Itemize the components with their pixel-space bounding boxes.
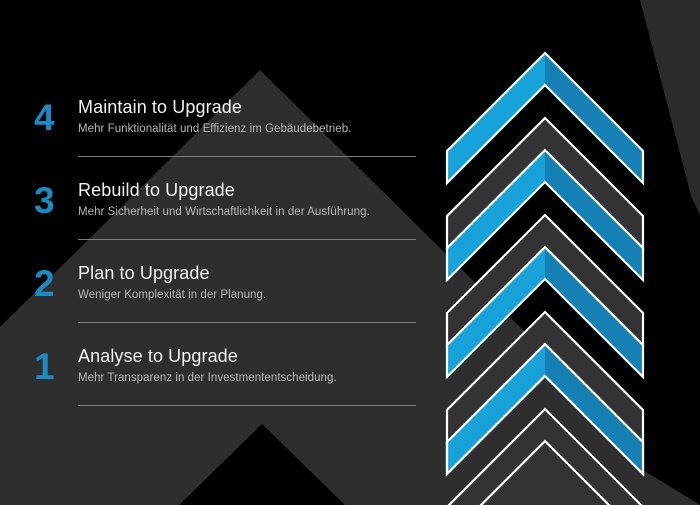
step-item-2[interactable]: 2 Plan to Upgrade Weniger Komplexität in… [34, 262, 416, 345]
step-title-1: Analyse to Upgrade [78, 345, 416, 368]
step-subtitle-1: Mehr Transparenz in der Investmententsch… [78, 370, 416, 386]
step-divider-4 [78, 156, 416, 157]
step-subtitle-2: Weniger Komplexität in der Planung. [78, 287, 416, 303]
step-number-1: 1 [34, 347, 68, 387]
step-item-1[interactable]: 1 Analyse to Upgrade Mehr Transparenz in… [34, 345, 416, 428]
step-number-2: 2 [34, 264, 68, 304]
step-subtitle-3: Mehr Sicherheit und Wirtschaftlichkeit i… [78, 204, 416, 220]
step-divider-2 [78, 322, 416, 323]
step-number-4: 4 [34, 98, 68, 138]
step-number-3: 3 [34, 181, 68, 221]
step-subtitle-4: Mehr Funktionalität und Effizienz im Geb… [78, 121, 416, 137]
slide-canvas: 4 Maintain to Upgrade Mehr Funktionalitä… [0, 0, 700, 505]
step-item-4[interactable]: 4 Maintain to Upgrade Mehr Funktionalitä… [34, 96, 416, 179]
step-title-2: Plan to Upgrade [78, 262, 416, 285]
step-divider-1 [78, 405, 416, 406]
step-item-3[interactable]: 3 Rebuild to Upgrade Mehr Sicherheit und… [34, 179, 416, 262]
step-title-3: Rebuild to Upgrade [78, 179, 416, 202]
step-title-4: Maintain to Upgrade [78, 96, 416, 119]
steps-list: 4 Maintain to Upgrade Mehr Funktionalitä… [34, 96, 416, 428]
step-divider-3 [78, 239, 416, 240]
